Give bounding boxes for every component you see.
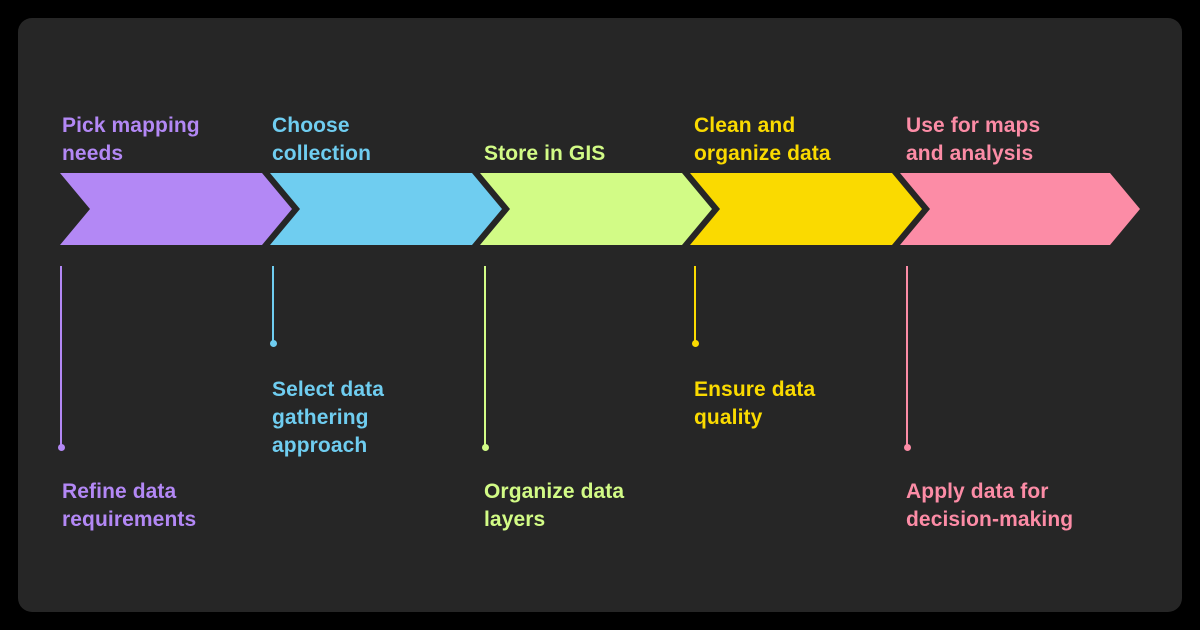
connector-dot-5 bbox=[904, 444, 911, 451]
chevron-band bbox=[18, 173, 1182, 245]
step-title-2: Choose collection bbox=[272, 112, 371, 168]
chevron-step-1[interactable] bbox=[60, 173, 292, 245]
diagram-panel: Pick mapping needs Choose collection Sto… bbox=[18, 18, 1182, 612]
chevron-step-2[interactable] bbox=[270, 173, 502, 245]
step-sublabel-2: Select data gathering approach bbox=[272, 376, 384, 460]
step-title-3: Store in GIS bbox=[484, 140, 605, 168]
step-sublabel-4: Ensure data quality bbox=[694, 376, 815, 432]
chevron-step-4[interactable] bbox=[690, 173, 922, 245]
connector-dot-4 bbox=[692, 340, 699, 347]
step-title-5: Use for maps and analysis bbox=[906, 112, 1040, 168]
step-title-1: Pick mapping needs bbox=[62, 112, 200, 168]
chevron-step-5[interactable] bbox=[900, 173, 1140, 245]
connector-dot-3 bbox=[482, 444, 489, 451]
connector-line-2 bbox=[272, 266, 274, 344]
connector-line-3 bbox=[484, 266, 486, 448]
step-sublabel-1: Refine data requirements bbox=[62, 478, 196, 534]
step-sublabel-5: Apply data for decision-making bbox=[906, 478, 1073, 534]
connector-line-4 bbox=[694, 266, 696, 344]
step-sublabel-3: Organize data layers bbox=[484, 478, 624, 534]
connector-dot-1 bbox=[58, 444, 65, 451]
connector-line-5 bbox=[906, 266, 908, 448]
diagram-canvas: Pick mapping needs Choose collection Sto… bbox=[0, 0, 1200, 630]
connector-line-1 bbox=[60, 266, 62, 448]
connector-dot-2 bbox=[270, 340, 277, 347]
chevron-step-3[interactable] bbox=[480, 173, 712, 245]
step-title-4: Clean and organize data bbox=[694, 112, 831, 168]
